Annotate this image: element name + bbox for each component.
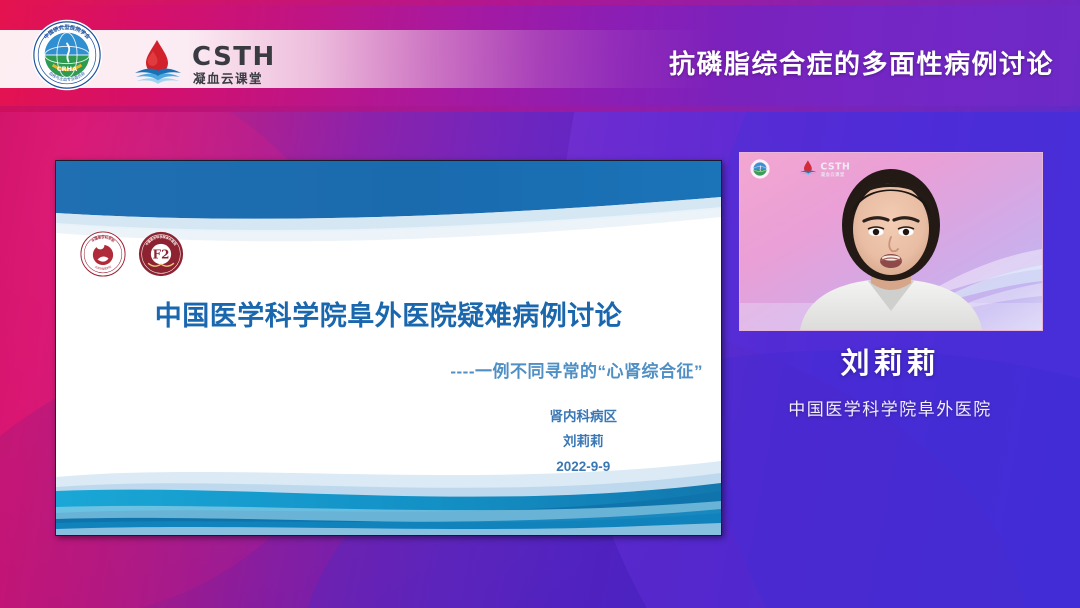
slide-emblem-group: 中国医学科学院 北京协和医学院 F2 中国医学科学院阜外医院 [80, 231, 184, 277]
video-virtual-background [740, 153, 1042, 330]
presentation-stage: CRHA 中国研究型医院学会 血栓与止血专业委员会 CSTH 凝血云课堂 抗磷脂… [0, 0, 1080, 608]
speaker-info: 刘莉莉 中国医学科学院阜外医院 [739, 340, 1041, 420]
crha-emblem-icon [750, 159, 770, 179]
svg-text:F2: F2 [153, 248, 170, 262]
svg-text:凝血云课堂: 凝血云课堂 [193, 71, 263, 86]
header-banner: CRHA 中国研究型医院学会 血栓与止血专业委员会 CSTH 凝血云课堂 抗磷脂… [0, 0, 1080, 112]
csth-logo-icon: CSTH 凝血云课堂 [133, 36, 288, 92]
slide-date: 2022-9-9 [550, 454, 618, 479]
slide-title: 中国医学科学院阜外医院疑难病例讨论 [56, 294, 721, 333]
speaker-name: 刘莉莉 [739, 340, 1041, 382]
svg-text:CSTH: CSTH [820, 161, 850, 172]
video-overlay-logos: CSTH 凝血云课堂 [750, 159, 858, 179]
speaker-affiliation: 中国医学科学院阜外医院 [739, 395, 1041, 420]
presenter-video-feed[interactable]: CSTH 凝血云课堂 [739, 152, 1043, 331]
crha-emblem-icon: CRHA 中国研究型医院学会 血栓与止血专业委员会 [31, 19, 103, 91]
header-top-rule [0, 0, 1080, 5]
csth-logo-icon: CSTH 凝血云课堂 [796, 159, 858, 179]
slide-department: 肾内科病区 [550, 404, 618, 429]
hospital-emblem-icon: 中国医学科学院 北京协和医学院 [80, 231, 126, 277]
page-title: 抗磷脂综合症的多面性病例讨论 [669, 44, 1054, 81]
slide-decoration [56, 161, 721, 535]
slide-meta-block: 肾内科病区 刘莉莉 2022-9-9 [550, 404, 618, 479]
presentation-slide[interactable]: 中国医学科学院 北京协和医学院 F2 中国医学科学院阜外医院 [55, 160, 722, 536]
header-bottom-rule [0, 106, 1080, 112]
fuwai-emblem-icon: F2 中国医学科学院阜外医院 [138, 231, 184, 277]
slide-presenter: 刘莉莉 [550, 429, 618, 454]
svg-text:CSTH: CSTH [192, 42, 276, 72]
svg-text:CRHA: CRHA [57, 65, 77, 73]
slide-subtitle: ----一例不同寻常的“心肾综合征” [450, 357, 703, 382]
